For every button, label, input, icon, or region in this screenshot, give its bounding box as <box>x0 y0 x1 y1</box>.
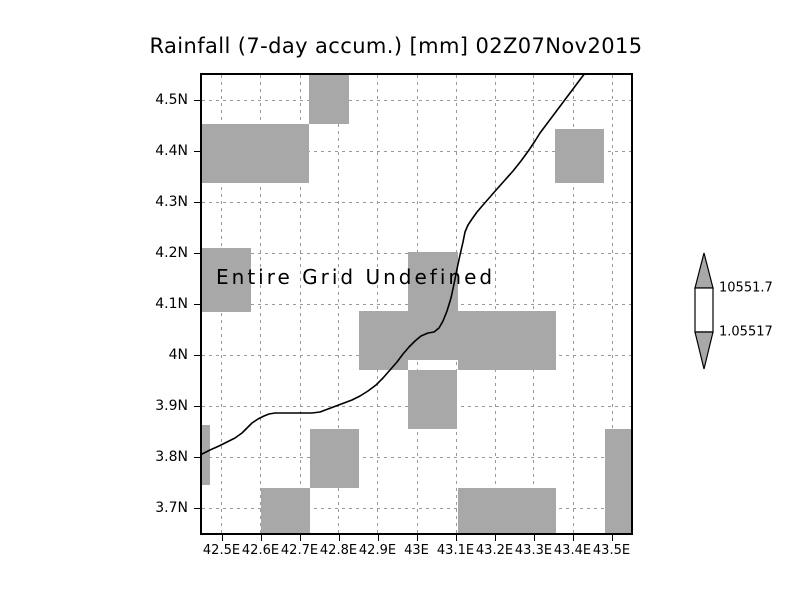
x-axis-tick <box>261 535 262 541</box>
x-axis-tick-label: 42.5E <box>203 543 240 558</box>
x-axis-tick <box>456 535 457 541</box>
y-axis-tick-label: 4.2N <box>0 245 188 261</box>
colorbar-bottom-triangle <box>695 332 713 369</box>
page-title: Rainfall (7-day accum.) [mm] 02Z07Nov201… <box>0 34 792 58</box>
x-axis-tick <box>495 535 496 541</box>
x-axis-tick-label: 42.9E <box>359 543 396 558</box>
x-axis-tick <box>378 535 379 541</box>
y-axis-tick-label: 3.7N <box>0 500 188 516</box>
y-axis-tick <box>194 508 200 509</box>
x-axis-tick <box>339 535 340 541</box>
y-axis-tick-label: 4.3N <box>0 194 188 210</box>
y-axis-tick-label: 4.4N <box>0 143 188 159</box>
x-axis-tick-label: 43.4E <box>554 543 591 558</box>
x-axis-tick <box>534 535 535 541</box>
colorbar-middle-rect <box>695 288 713 332</box>
y-axis-tick <box>194 355 200 356</box>
y-axis-tick <box>194 151 200 152</box>
x-axis-tick <box>300 535 301 541</box>
x-axis-tick-label: 42.8E <box>320 543 357 558</box>
x-axis-tick <box>612 535 613 541</box>
colorbar-high-label: 10551.7 <box>719 281 773 296</box>
colorbar-graphic <box>693 252 739 370</box>
x-axis-tick <box>573 535 574 541</box>
coastline-layer <box>202 75 631 533</box>
colorbar-low-label: 1.05517 <box>719 325 773 340</box>
y-axis-tick-label: 4.5N <box>0 92 188 108</box>
colorbar-top-triangle <box>695 253 713 288</box>
colorbar[interactable]: 10551.7 1.05517 <box>693 252 788 372</box>
y-axis-tick-label: 3.9N <box>0 398 188 414</box>
y-axis-tick-label: 4N <box>0 347 188 363</box>
x-axis-tick-label: 43.5E <box>593 543 630 558</box>
y-axis-tick <box>194 406 200 407</box>
x-axis-tick-label: 43.2E <box>476 543 513 558</box>
y-axis-tick <box>194 457 200 458</box>
x-axis-tick-label: 43.3E <box>515 543 552 558</box>
x-axis-tick-label: 42.6E <box>242 543 279 558</box>
x-axis-tick <box>417 535 418 541</box>
screenshot-root: Rainfall (7-day accum.) [mm] 02Z07Nov201… <box>0 0 792 612</box>
y-axis-tick <box>194 100 200 101</box>
x-axis-tick-label: 42.7E <box>281 543 318 558</box>
entire-grid-undefined-message: Entire Grid Undefined <box>216 265 495 289</box>
y-axis-tick <box>194 253 200 254</box>
x-axis-tick-label: 43E <box>404 543 429 558</box>
y-axis-tick-label: 4.1N <box>0 296 188 312</box>
x-axis-tick <box>222 535 223 541</box>
map-plot-area[interactable]: Entire Grid Undefined <box>200 73 633 535</box>
x-axis-tick-label: 43.1E <box>437 543 474 558</box>
y-axis-tick <box>194 202 200 203</box>
y-axis-tick <box>194 304 200 305</box>
y-axis-tick-label: 3.8N <box>0 449 188 465</box>
